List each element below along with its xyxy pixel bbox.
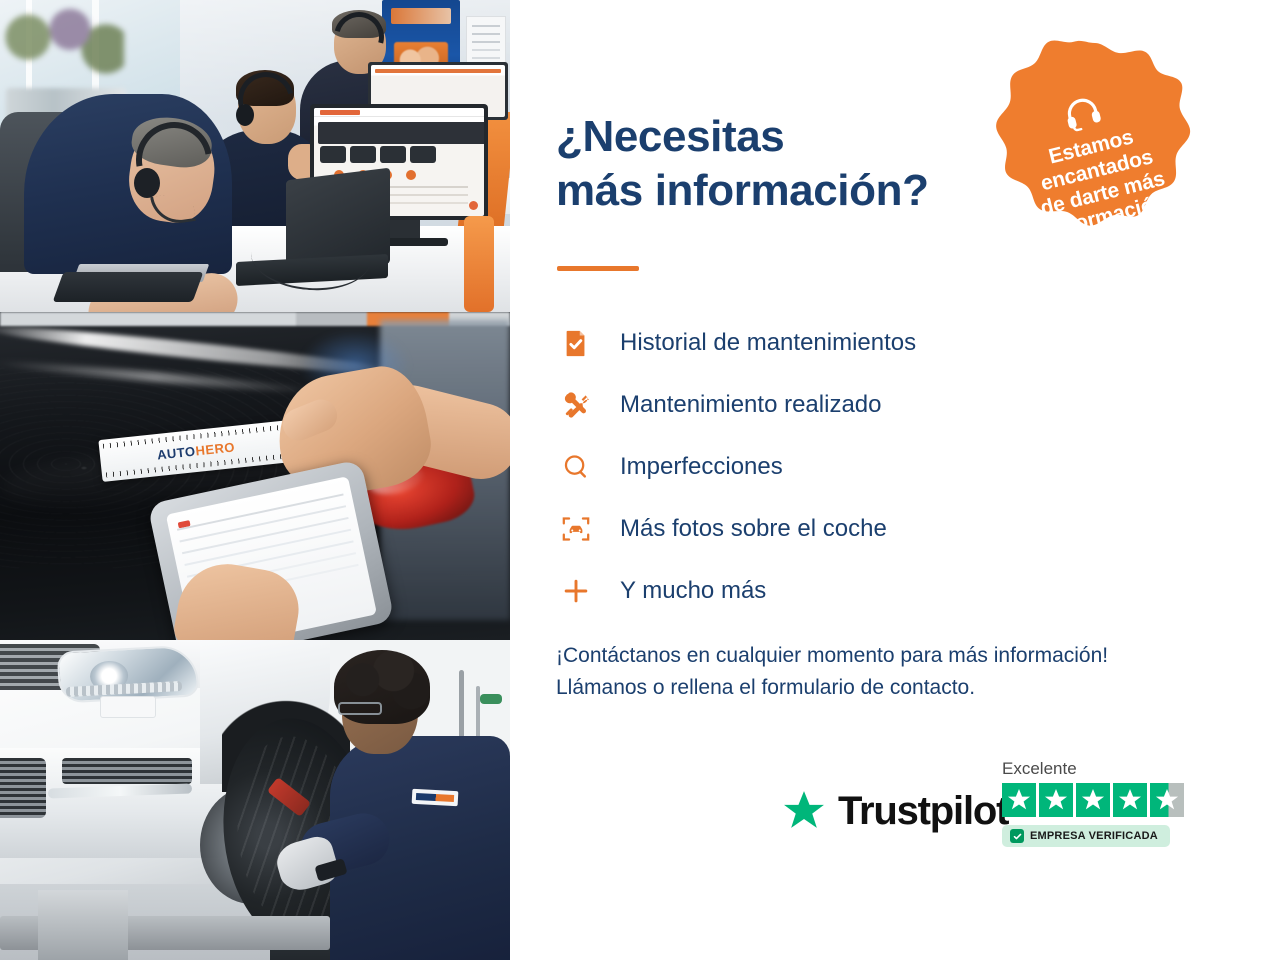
- document-check-icon: [556, 323, 596, 363]
- trustpilot-star-icon: [780, 788, 828, 834]
- photo3-technician-glasses: [338, 702, 382, 715]
- autohero-logo-hero: HERO: [195, 439, 236, 458]
- tools-wrench-screwdriver-icon: [556, 385, 596, 425]
- feature-item-imperfections: Imperfecciones: [556, 436, 1076, 498]
- feature-label: Y mucho más: [620, 579, 766, 603]
- photo3-licence-plate-area: [100, 696, 156, 718]
- page-title-line-2: más información?: [556, 164, 1016, 218]
- promo-panel: AUTOHERO: [0, 0, 1280, 960]
- contact-text-line-1: ¡Contáctanos en cualquier momento para m…: [556, 640, 1236, 672]
- trustpilot-rating-label: Excelente: [1002, 760, 1202, 777]
- photo1-screen-chat-bubble: [469, 201, 478, 210]
- rating-star-3: [1076, 783, 1110, 817]
- feature-label: Imperfecciones: [620, 455, 783, 479]
- feature-item-more: Y mucho más: [556, 560, 1076, 622]
- plus-icon: [556, 571, 596, 611]
- photo3-autohero-polo-logo: [412, 789, 459, 806]
- feature-item-more-photos: Más fotos sobre el coche: [556, 498, 1076, 560]
- photo1-agent-one-earcup: [134, 168, 160, 198]
- headset-icon: [1061, 94, 1105, 139]
- photo3-lift-post: [38, 890, 128, 960]
- content-panel: ¿Necesitas más información? Historial de…: [510, 0, 1280, 960]
- photo2-tablet-status-dot: [178, 520, 191, 528]
- photo1-trees: [4, 6, 124, 84]
- photo1-orange-chair-front: [464, 216, 494, 312]
- trustpilot-star-rating: [1002, 783, 1202, 817]
- autohero-logo-auto: AUTO: [156, 444, 196, 463]
- photo1-screen-hero: [318, 122, 484, 144]
- feature-label: Más fotos sobre el coche: [620, 517, 887, 541]
- verified-check-icon: [1010, 829, 1024, 843]
- rating-star-4: [1113, 783, 1147, 817]
- feature-list: Historial de mantenimientos Mantenimient…: [556, 312, 1076, 622]
- photo-column: AUTOHERO: [0, 0, 510, 960]
- photo1-agent-one: [24, 94, 232, 274]
- rating-star-1: [1002, 783, 1036, 817]
- contact-text-line-2: Llámanos o rellena el formulario de cont…: [556, 672, 1236, 704]
- magnifier-icon: [556, 447, 596, 487]
- car-photo-frame-icon: [556, 509, 596, 549]
- badge-text: Estamos encantados de darte más informac…: [1027, 121, 1173, 243]
- feature-label: Historial de mantenimientos: [620, 331, 916, 355]
- trustpilot-logo[interactable]: Trustpilot: [780, 788, 1008, 834]
- call-center-agents-photo: [0, 0, 510, 312]
- photo1-agent-one-microphone: [150, 191, 196, 227]
- trustpilot-wordmark: Trustpilot: [838, 789, 1008, 834]
- feature-item-maintenance-history: Historial de mantenimientos: [556, 312, 1076, 374]
- autohero-logo: AUTOHERO: [156, 439, 235, 462]
- photo1-agent-two-earcup: [236, 104, 254, 126]
- workshop-tyre-change-photo: [0, 640, 510, 960]
- rating-star-2: [1039, 783, 1073, 817]
- trustpilot-widget[interactable]: Trustpilot Excelente EMPRESA VERIFICADA: [780, 760, 1200, 880]
- verified-company-badge: EMPRESA VERIFICADA: [1002, 825, 1170, 847]
- title-divider: [557, 266, 639, 271]
- photo3-bumper-vent-center: [62, 758, 192, 784]
- verified-company-label: EMPRESA VERIFICADA: [1030, 830, 1158, 842]
- car-inspection-ruler-photo: AUTOHERO: [0, 312, 510, 640]
- page-title-line-1: ¿Necesitas: [556, 112, 784, 161]
- support-badge: Estamos encantados de darte más informac…: [970, 38, 1220, 288]
- feature-item-maintenance-done: Mantenimiento realizado: [556, 374, 1076, 436]
- trustpilot-rating: Excelente EMPRESA VERIFICADA: [1002, 760, 1202, 847]
- feature-label: Mantenimiento realizado: [620, 393, 881, 417]
- photo3-bumper-vent-side: [0, 758, 46, 818]
- photo1-browser-bar: [314, 108, 484, 117]
- photo3-green-hose: [480, 694, 502, 704]
- photo1-screen-thumbnails: [320, 146, 436, 163]
- page-title: ¿Necesitas más información?: [556, 110, 1016, 217]
- rating-star-5-half: [1150, 783, 1184, 817]
- photo1-tablet-on-desk: [53, 272, 204, 302]
- contact-text: ¡Contáctanos en cualquier momento para m…: [556, 640, 1236, 704]
